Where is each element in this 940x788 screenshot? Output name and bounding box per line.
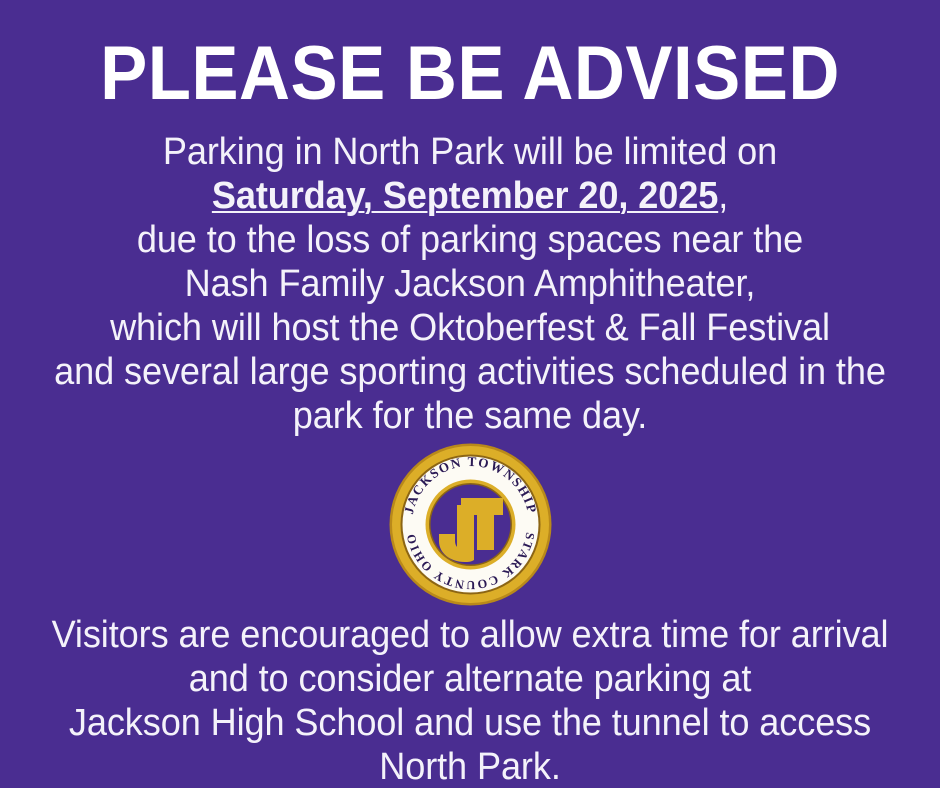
- notice-line-2: Saturday, September 20, 2025,: [24, 174, 917, 218]
- advice-line-3: Jackson High School and use the tunnel t…: [24, 701, 917, 745]
- notice-line-5: which will host the Oktoberfest & Fall F…: [24, 306, 917, 350]
- notice-paragraph-bottom: Visitors are encouraged to allow extra t…: [0, 613, 940, 788]
- notice-paragraph-top: Parking in North Park will be limited on…: [0, 130, 940, 438]
- page-title: PLEASE BE ADVISED: [33, 34, 907, 114]
- advice-line-2: and to consider alternate parking at: [24, 657, 917, 701]
- advice-line-1: Visitors are encouraged to allow extra t…: [24, 613, 917, 657]
- event-date-emphasis: Saturday, September 20, 2025: [212, 175, 718, 217]
- notice-line-4: Nash Family Jackson Amphitheater,: [24, 262, 917, 306]
- notice-line-1: Parking in North Park will be limited on: [24, 130, 917, 174]
- advice-line-4: North Park.: [24, 745, 917, 788]
- notice-line-3: due to the loss of parking spaces near t…: [24, 218, 917, 262]
- announcement-poster: PLEASE BE ADVISED Parking in North Park …: [0, 0, 940, 788]
- notice-line-7: park for the same day.: [24, 394, 917, 438]
- event-date-trailing-comma: ,: [718, 175, 728, 217]
- jackson-township-seal-icon: JACKSON TOWNSHIP STARK COUNTY OHIO: [389, 443, 552, 606]
- notice-line-6: and several large sporting activities sc…: [24, 350, 917, 394]
